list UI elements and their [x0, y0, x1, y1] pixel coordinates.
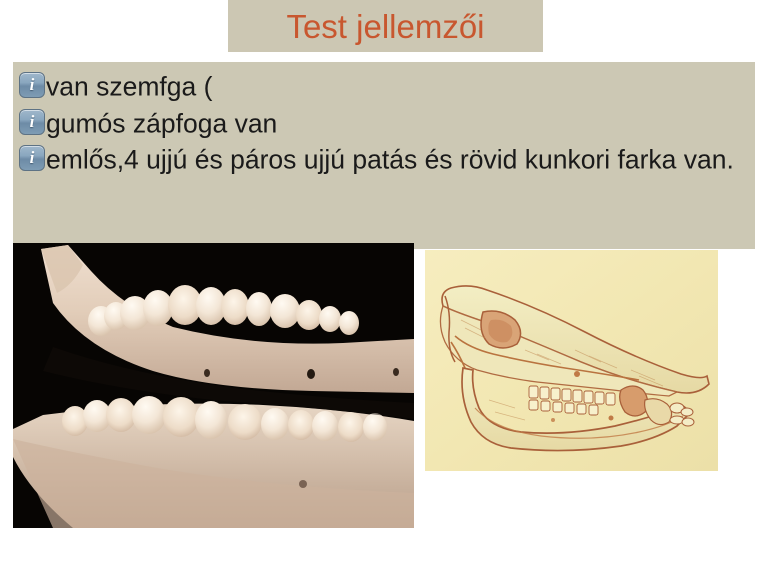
info-icon	[19, 72, 45, 98]
list-item: gumós zápfoga van	[19, 105, 747, 142]
list-item-label: van szemfga (	[46, 72, 212, 102]
info-icon	[19, 109, 45, 135]
jaw-illustration	[13, 243, 414, 528]
title-box: Test jellemzői	[228, 0, 543, 52]
info-icon	[19, 145, 45, 171]
list-item: van szemfga (	[19, 68, 747, 105]
skull-illustration	[425, 250, 718, 471]
list-item: emlős,4 ujjú és páros ujjú patás és rövi…	[19, 141, 747, 178]
pig-jaw-teeth-photograph	[13, 243, 414, 528]
page-title: Test jellemzői	[286, 10, 484, 43]
content-panel: van szemfga ( gumós zápfoga van emlős,4 …	[13, 62, 755, 249]
bullet-list: van szemfga ( gumós zápfoga van emlős,4 …	[19, 68, 747, 178]
pig-skull-drawing	[425, 250, 718, 471]
slide-canvas: Test jellemzői van szemfga ( gumós zápfo…	[0, 0, 768, 561]
list-item-label: gumós zápfoga van	[46, 108, 277, 138]
list-item-label: emlős,4 ujjú és páros ujjú patás és rövi…	[46, 145, 734, 175]
